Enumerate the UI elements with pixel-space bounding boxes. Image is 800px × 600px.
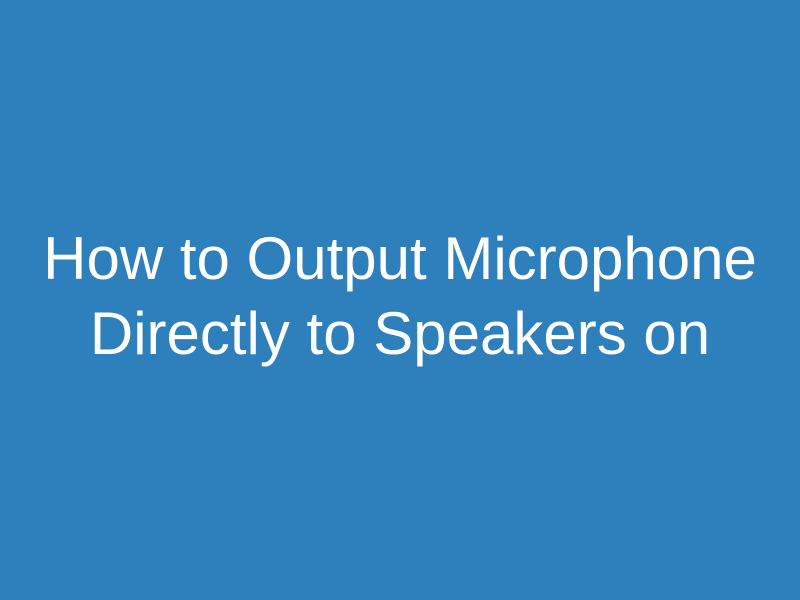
title-card: How to Output Microphone Directly to Spe…	[0, 0, 800, 600]
headline-block: How to Output Microphone Directly to Spe…	[0, 221, 800, 371]
page-title: How to Output Microphone Directly to Spe…	[40, 221, 760, 371]
